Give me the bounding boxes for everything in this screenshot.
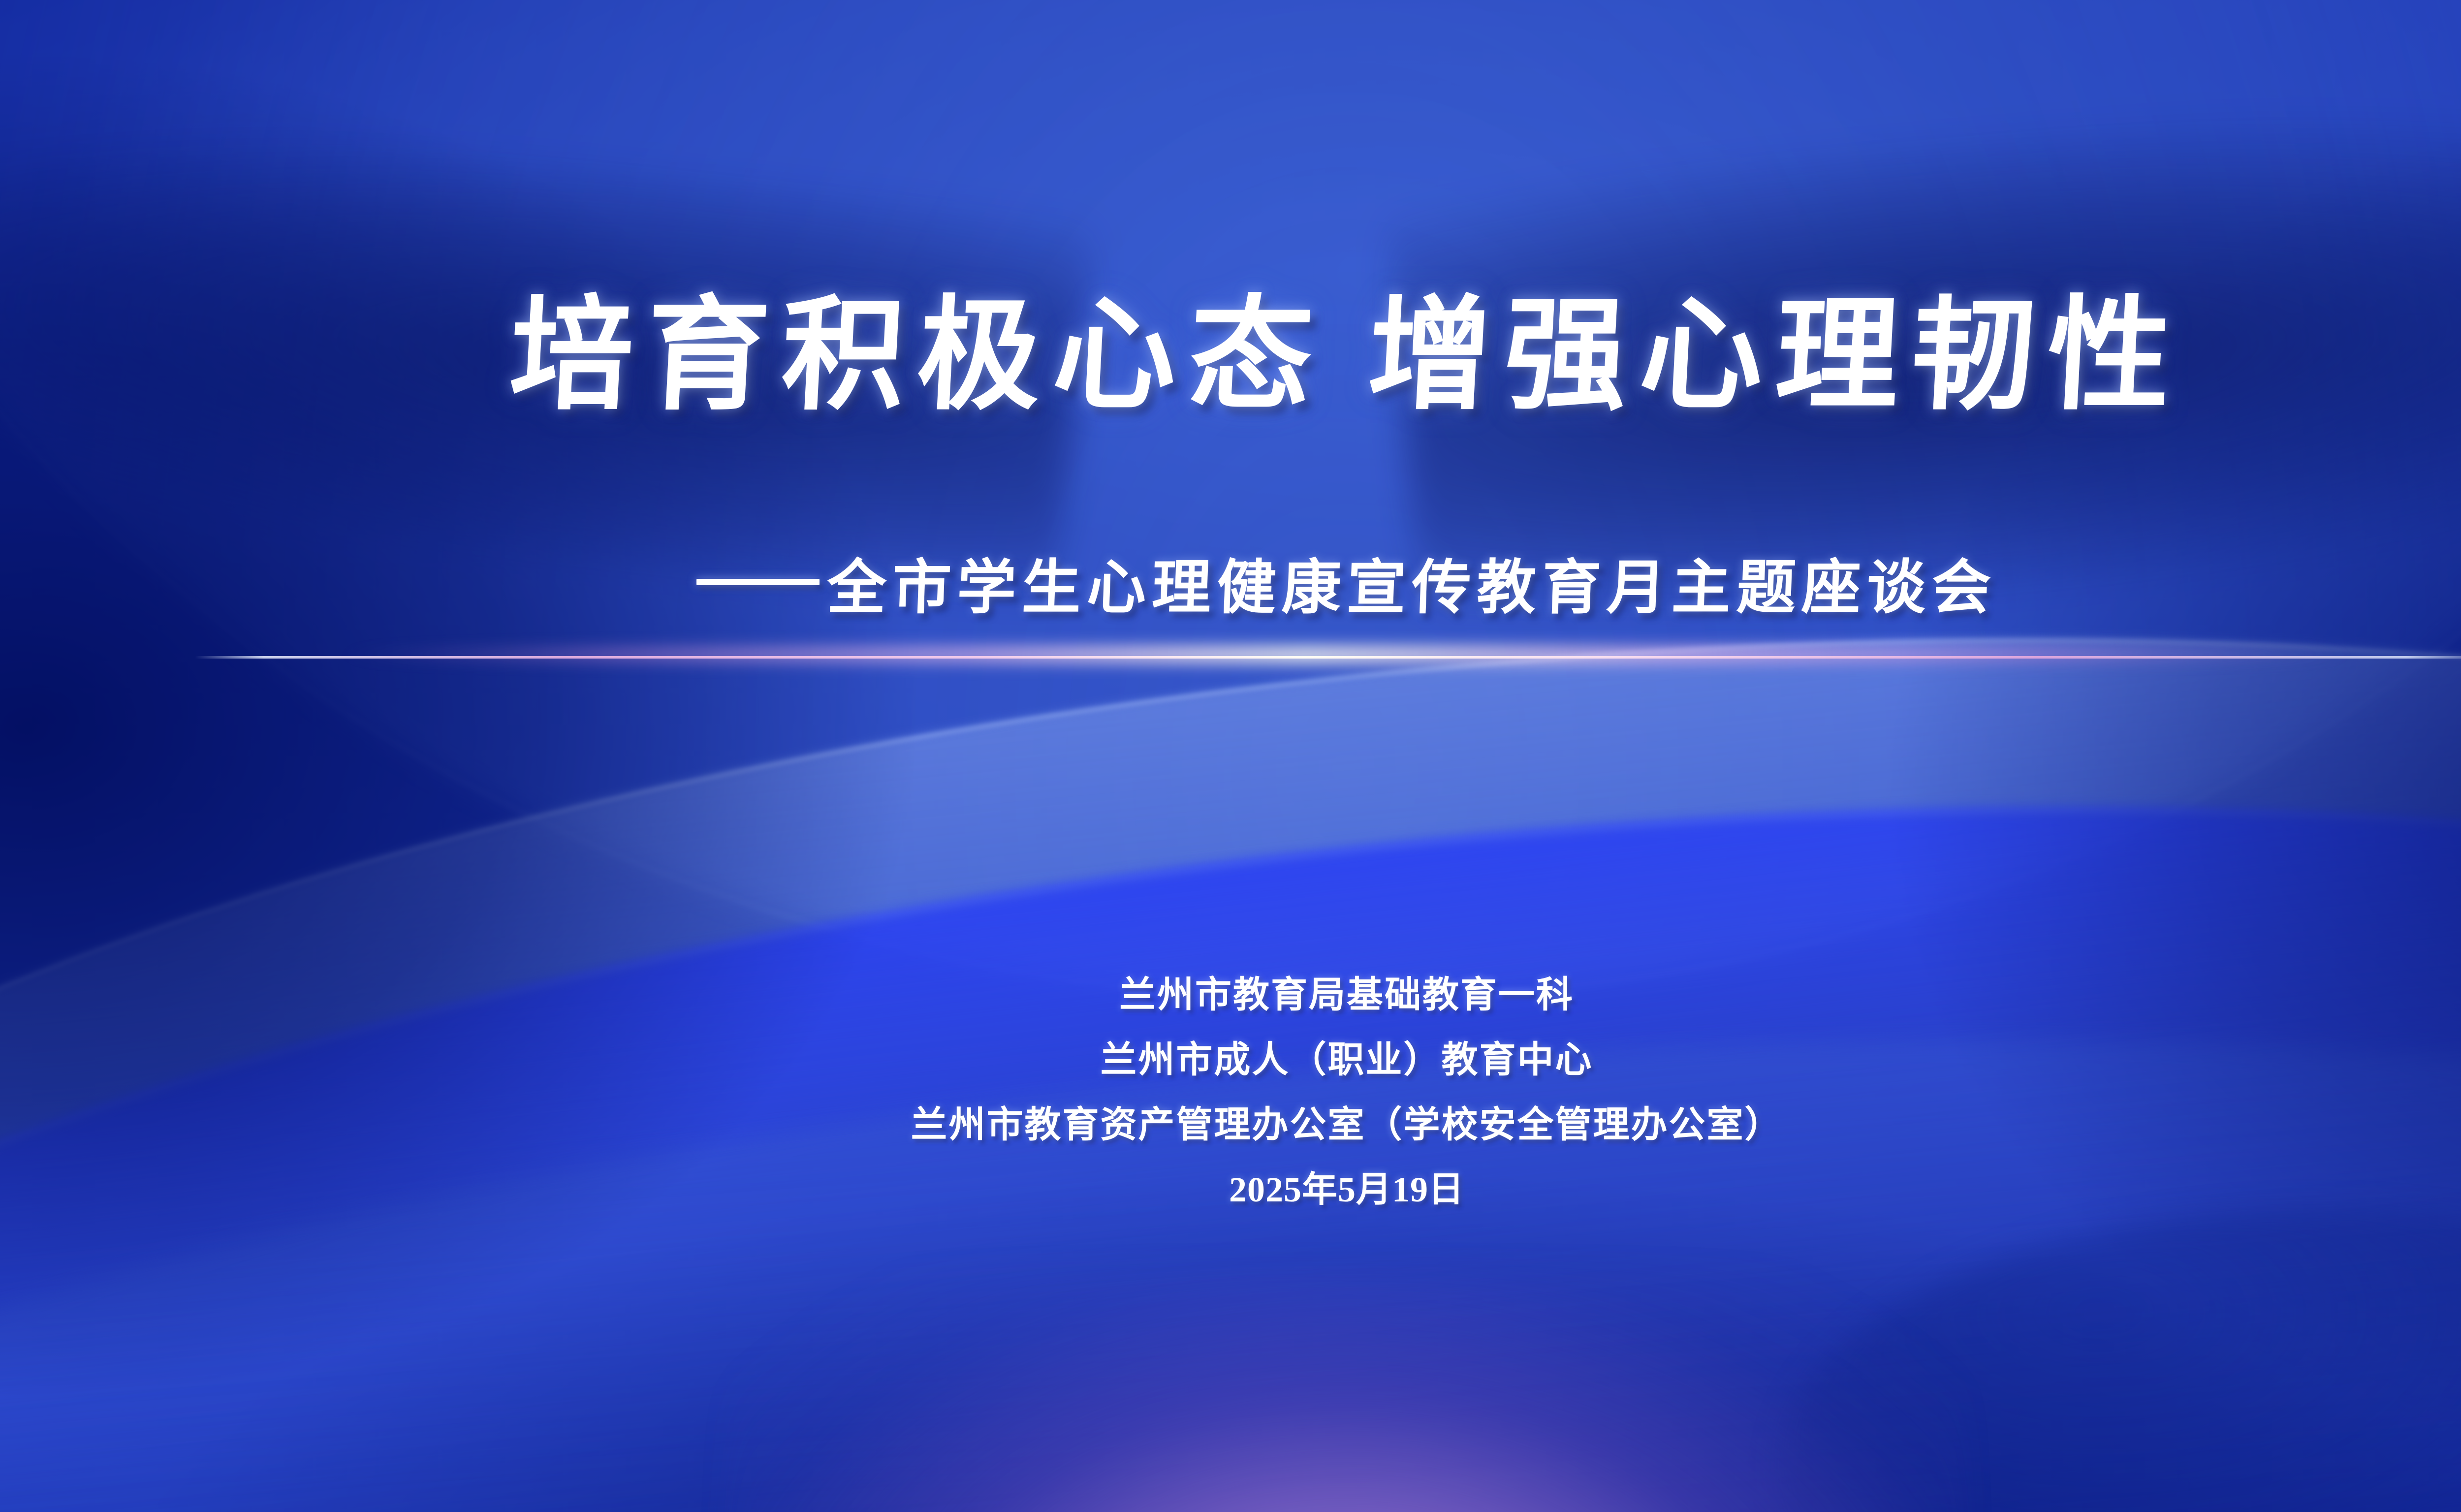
presentation-slide: 培育积极心态增强心理韧性 全市学生心理健康宣传教育月主题座谈会 兰州市教育局基础… (0, 0, 2461, 1512)
organizer-block: 兰州市教育局基础教育一科 兰州市成人（职业）教育中心 兰州市教育资产管理办公室（… (0, 977, 2461, 1207)
subtitle-text: 全市学生心理健康宣传教育月主题座谈会 (826, 539, 1998, 625)
glowing-divider (195, 652, 2461, 664)
em-dash-rule (696, 579, 820, 585)
organizer-line: 兰州市教育资产管理办公室（学校安全管理办公室） (911, 1107, 1783, 1143)
organizer-line: 兰州市成人（职业）教育中心 (1101, 1042, 1593, 1078)
subtitle-row: 全市学生心理健康宣传教育月主题座谈会 (696, 539, 1997, 625)
event-date: 2025年5月19日 (1229, 1172, 1464, 1207)
page-title: 培育积极心态增强心理韧性 (506, 295, 2186, 418)
main-title-part-2: 增强心理韧性 (1365, 288, 2187, 425)
main-title-part-1: 培育积极心态 (506, 288, 1329, 425)
divider-glow (333, 647, 2360, 662)
slide-content: 培育积极心态增强心理韧性 全市学生心理健康宣传教育月主题座谈会 兰州市教育局基础… (0, 0, 2461, 1512)
organizer-line: 兰州市教育局基础教育一科 (1119, 977, 1574, 1013)
divider-core-line (195, 656, 2461, 659)
